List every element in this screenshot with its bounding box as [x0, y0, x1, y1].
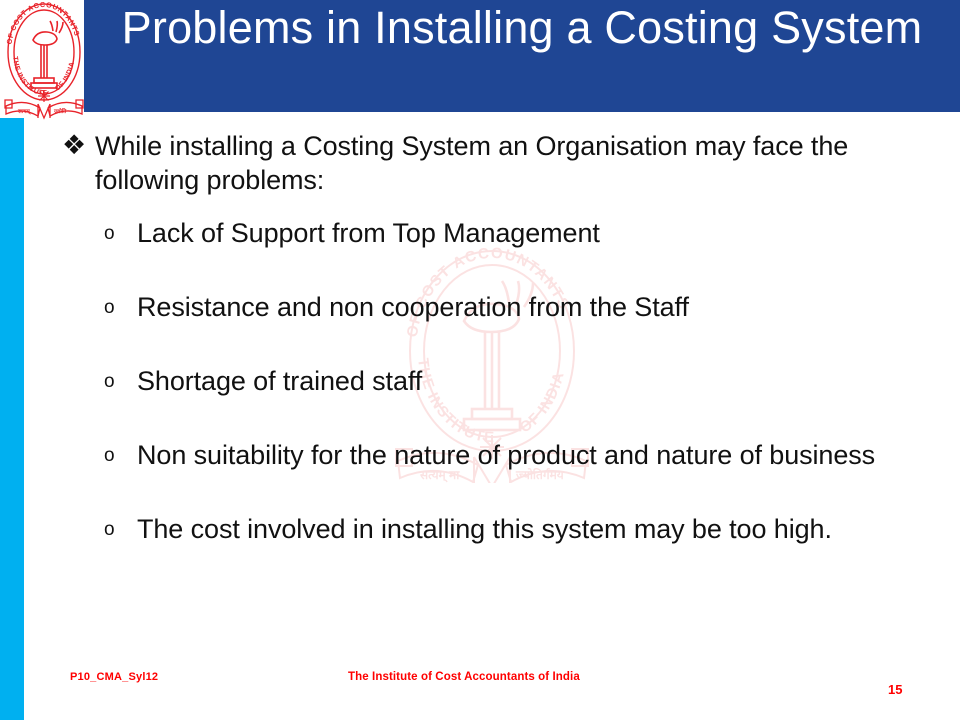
svg-text:THE INSTITUTE: THE INSTITUTE	[11, 56, 48, 97]
slide-canvas: Problems in Installing a Costing System …	[0, 0, 960, 720]
list-item-text: Lack of Support from Top Management	[137, 216, 934, 250]
circle-bullet-icon: o	[104, 290, 137, 326]
list-item-text: Resistance and non cooperation from the …	[137, 290, 934, 324]
slide-title-text: Problems in Installing a Costing System	[107, 1, 937, 55]
list-item-text: The cost involved in installing this sys…	[137, 512, 934, 546]
list-item: o Resistance and non cooperation from th…	[104, 290, 934, 326]
slide-footer: P10_CMA_Syl12 The Institute of Cost Acco…	[0, 662, 960, 720]
slide-body: ❖ While installing a Costing System an O…	[0, 112, 960, 652]
footer-institute-name: The Institute of Cost Accountants of Ind…	[348, 671, 580, 683]
diamond-bullet-icon: ❖	[62, 129, 95, 163]
main-bullet-text: While installing a Costing System an Org…	[95, 129, 934, 197]
list-item-text: Shortage of trained staff	[137, 364, 934, 398]
list-item: o Non suitability for the nature of prod…	[104, 438, 934, 474]
slide-title: Problems in Installing a Costing System	[84, 0, 960, 112]
circle-bullet-icon: o	[104, 438, 137, 474]
main-bullet: ❖ While installing a Costing System an O…	[62, 129, 934, 197]
list-item: o The cost involved in installing this s…	[104, 512, 934, 548]
list-item-text: Non suitability for the nature of produc…	[137, 438, 934, 472]
list-item: o Shortage of trained staff	[104, 364, 934, 400]
institute-logo: OF COST ACCOUNTANTS THE INSTITUTE OF IND…	[2, 0, 86, 120]
list-item: o Lack of Support from Top Management	[104, 216, 934, 252]
circle-bullet-icon: o	[104, 364, 137, 400]
circle-bullet-icon: o	[104, 216, 137, 252]
svg-text:सत्यम्: सत्यम्	[17, 109, 31, 115]
svg-text:ज्योति: ज्योति	[53, 107, 67, 115]
sub-bullet-list: o Lack of Support from Top Management o …	[104, 216, 934, 586]
page-number: 15	[888, 682, 902, 697]
footer-course-code: P10_CMA_Syl12	[70, 671, 158, 683]
circle-bullet-icon: o	[104, 512, 137, 548]
